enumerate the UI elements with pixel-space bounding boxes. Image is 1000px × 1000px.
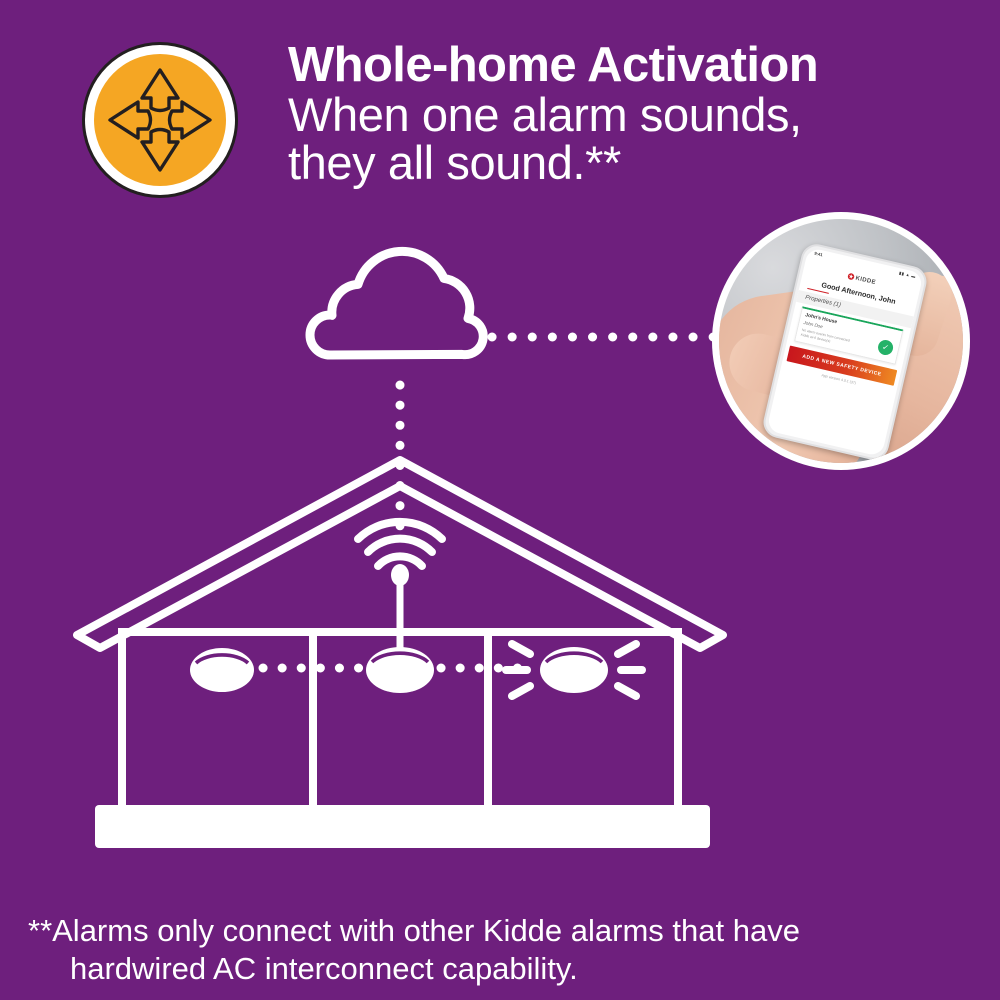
four-way-arrows-icon [82, 42, 238, 198]
kidde-logo: ✪ KIDDE [847, 273, 877, 287]
smoke-alarm-right [506, 644, 642, 696]
headline-line-1: Whole-home Activation [288, 40, 978, 90]
infographic-canvas: Whole-home Activation When one alarm sou… [0, 0, 1000, 1000]
house-foundation [95, 805, 710, 848]
page-title: Whole-home Activation When one alarm sou… [288, 40, 978, 186]
cloud-icon [310, 251, 483, 355]
footnote-line-2: hardwired AC interconnect capability. [28, 950, 958, 988]
hand-holding-phone-photo: 9:41 ▮▮ ▲ ▬ ✪ KIDDE Good Afternoon, John… [719, 219, 963, 463]
smoke-alarm-left [190, 648, 254, 692]
footnote-line-1: **Alarms only connect with other Kidde a… [28, 912, 958, 950]
wifi-dot [391, 564, 409, 586]
headline-line-2: When one alarm sounds, [288, 91, 978, 138]
smoke-alarm-center [366, 647, 434, 693]
kidde-wordmark: KIDDE [855, 276, 876, 286]
badge-arrows-svg [82, 42, 238, 198]
headline-line-3: they all sound.** [288, 139, 978, 186]
phone-app-inset: 9:41 ▮▮ ▲ ▬ ✪ KIDDE Good Afternoon, John… [712, 212, 970, 470]
wifi-signal-icon [358, 522, 442, 566]
house-body [122, 632, 678, 812]
footnote: **Alarms only connect with other Kidde a… [28, 912, 958, 988]
house-roof [77, 460, 723, 648]
alarm-sound-rays [506, 644, 642, 696]
